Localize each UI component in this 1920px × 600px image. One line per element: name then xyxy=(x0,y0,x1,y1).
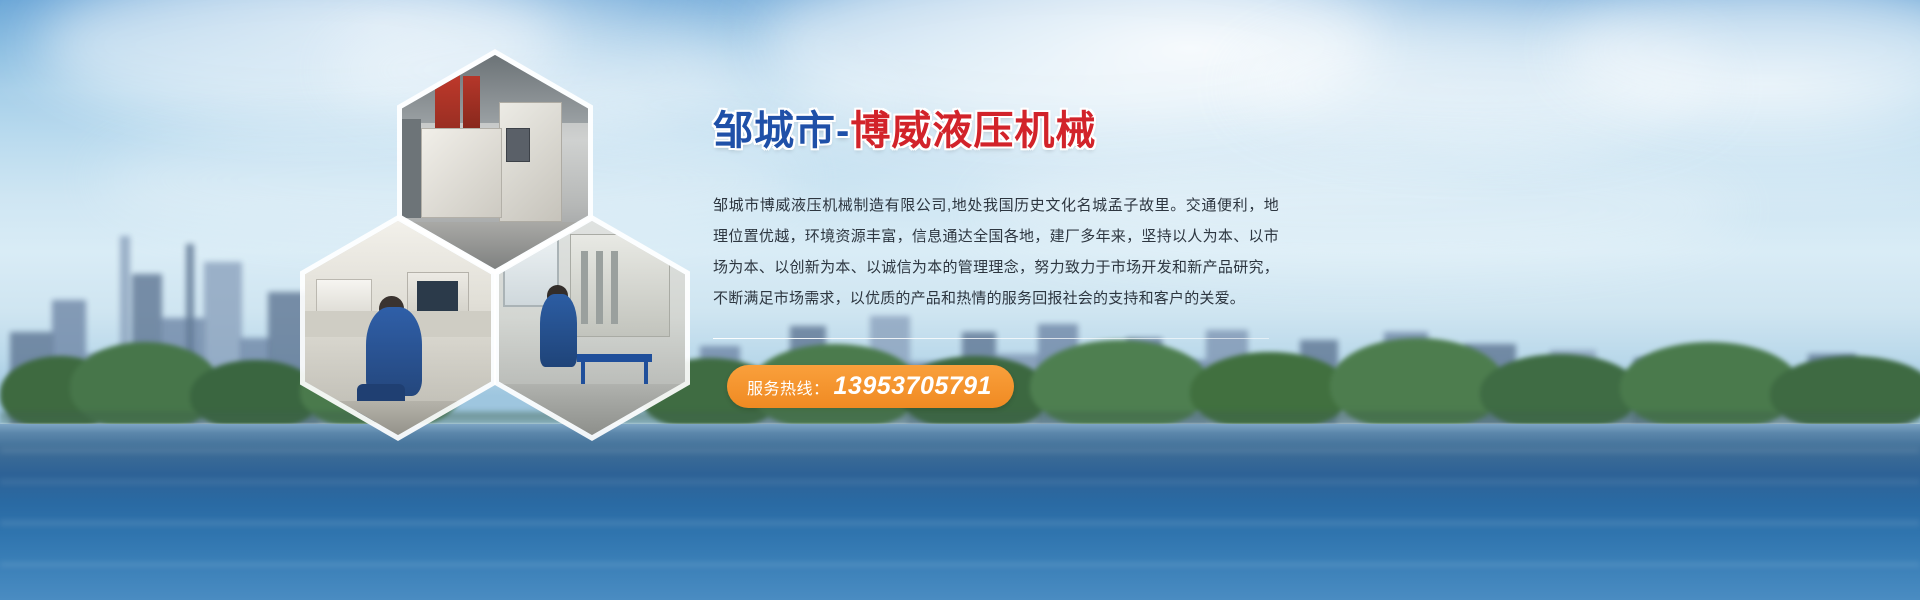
banner-text-panel: 邹城市-博威液压机械 邹城市博威液压机械制造有限公司,地处我国历史文化名城孟子故… xyxy=(713,108,1293,408)
water-background xyxy=(0,424,1920,600)
hotline-label: 服务热线： xyxy=(747,375,830,399)
banner-stage: 邹城市-博威液压机械 邹城市博威液压机械制造有限公司,地处我国历史文化名城孟子故… xyxy=(0,0,1920,600)
company-description: 邹城市博威液压机械制造有限公司,地处我国历史文化名城孟子故里。交通便利，地理位置… xyxy=(713,190,1279,314)
divider xyxy=(713,338,1269,339)
title-red-part: 博威液压机械 xyxy=(850,109,1096,153)
hotline-number: 13953705791 xyxy=(834,372,992,401)
hotline-button[interactable]: 服务热线： 13953705791 xyxy=(727,365,1014,408)
title-blue-part: 邹城市- xyxy=(713,109,850,153)
hexagon-photo-cluster xyxy=(300,55,700,445)
page-title: 邹城市-博威液压机械 xyxy=(713,108,1293,154)
